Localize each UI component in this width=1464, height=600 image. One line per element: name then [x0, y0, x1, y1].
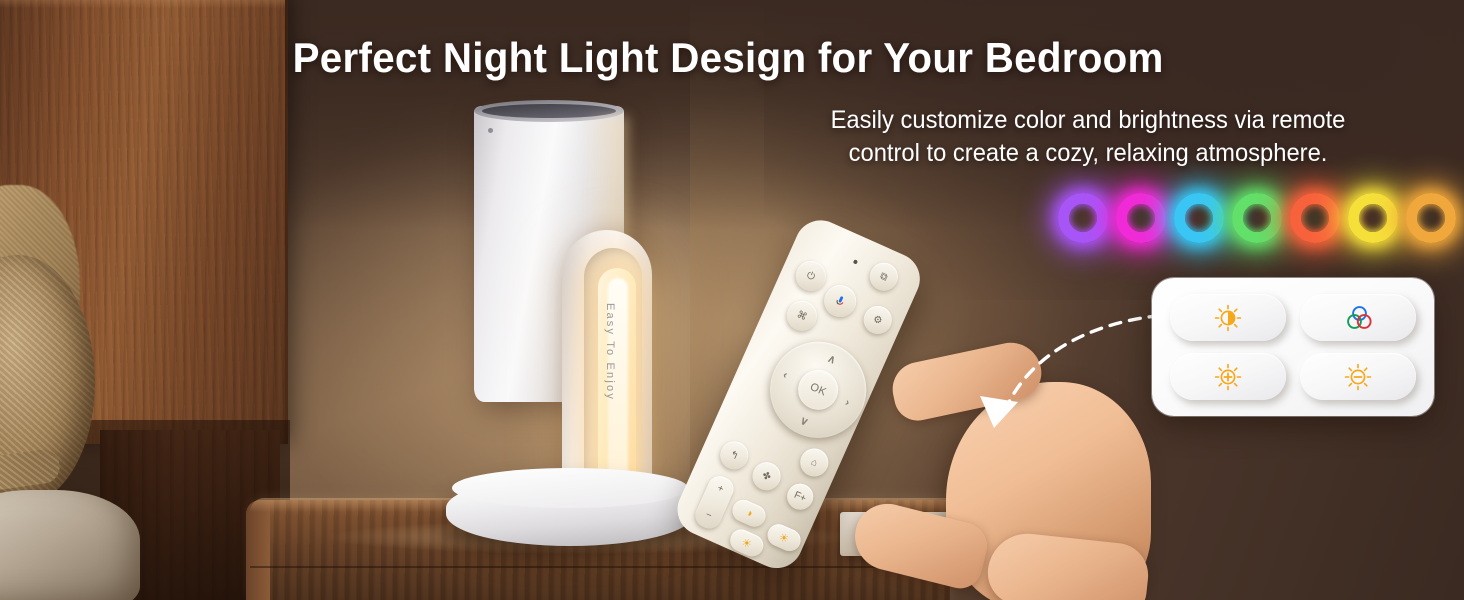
remote-back-button[interactable]: ↰: [716, 437, 753, 474]
ok-label: OK: [808, 381, 828, 399]
subtitle: Easily customize color and brightness vi…: [731, 104, 1445, 170]
power-icon: ⏻: [805, 269, 817, 282]
remote-mic-button[interactable]: [819, 280, 861, 322]
minus-icon[interactable]: −: [704, 509, 714, 521]
callout-brightness-down-button[interactable]: [1300, 353, 1416, 400]
subtitle-line-2: control to create a cozy, relaxing atmos…: [731, 137, 1445, 170]
remote-volume-rocker[interactable]: + −: [692, 472, 738, 532]
back-arrow-icon: ↰: [728, 449, 740, 462]
remote-light-bright-button[interactable]: ☀: [764, 521, 804, 555]
color-ring-green[interactable]: [1232, 193, 1282, 243]
input-source-icon: ⧉: [878, 270, 889, 283]
color-ring-orange-red[interactable]: [1290, 193, 1340, 243]
color-swatch-rings: [1058, 193, 1456, 243]
sun-minus-icon: [1343, 362, 1373, 392]
color-ring-yellow[interactable]: [1348, 193, 1398, 243]
half-sun-icon: [1213, 303, 1243, 333]
lamp-base-surface: [452, 468, 688, 508]
remote-function-button[interactable]: F+: [783, 480, 817, 514]
remote-light-warm-button[interactable]: ◑: [729, 496, 769, 530]
half-sun-icon: ◑: [743, 506, 754, 520]
lamp-sensor-dot: [488, 128, 493, 133]
subtitle-line-1: Easily customize color and brightness vi…: [731, 104, 1445, 137]
remote-ir-dot: [853, 259, 858, 264]
remote-apps-button[interactable]: ⌘: [782, 296, 822, 336]
color-ring-purple[interactable]: [1058, 193, 1108, 243]
white-bedding: [0, 490, 140, 600]
sun-icon: ☀: [777, 530, 791, 546]
callout-brightness-mode-button[interactable]: [1170, 294, 1286, 341]
callout-brightness-up-button[interactable]: [1170, 353, 1286, 400]
page-title: Perfect Night Light Design for Your Bedr…: [29, 34, 1434, 82]
gear-icon: ⚙: [871, 313, 884, 327]
function-icon: F+: [792, 489, 807, 504]
sun-gear-icon: ☀: [740, 535, 754, 551]
arrow-head: [980, 396, 1018, 428]
nightstand-side: [246, 500, 270, 600]
remote-power-button[interactable]: ⏻: [791, 256, 831, 296]
rgb-circles-icon: [1343, 304, 1373, 332]
home-icon: ⌂: [809, 456, 819, 469]
color-ring-magenta[interactable]: [1116, 193, 1166, 243]
plus-icon[interactable]: +: [715, 483, 725, 495]
product-banner: Easy To Enjoy ⏻ ⧉: [0, 0, 1464, 600]
network-icon: ✤: [760, 470, 772, 483]
sun-plus-icon: [1213, 362, 1243, 392]
remote-button-callout-panel: [1152, 278, 1434, 416]
remote-input-source-button[interactable]: ⧉: [865, 258, 902, 295]
headboard-top-edge: [0, 0, 285, 8]
apps-grid-icon: ⌘: [795, 309, 809, 323]
callout-rgb-color-mode-button[interactable]: [1300, 294, 1416, 341]
mic-icon: [832, 293, 848, 309]
remote-network-button[interactable]: ✤: [748, 458, 785, 495]
remote-home-button[interactable]: ⌂: [796, 444, 833, 481]
color-ring-cyan[interactable]: [1174, 193, 1224, 243]
lamp-brand-text: Easy To Enjoy: [604, 292, 616, 412]
color-ring-amber[interactable]: [1406, 193, 1456, 243]
